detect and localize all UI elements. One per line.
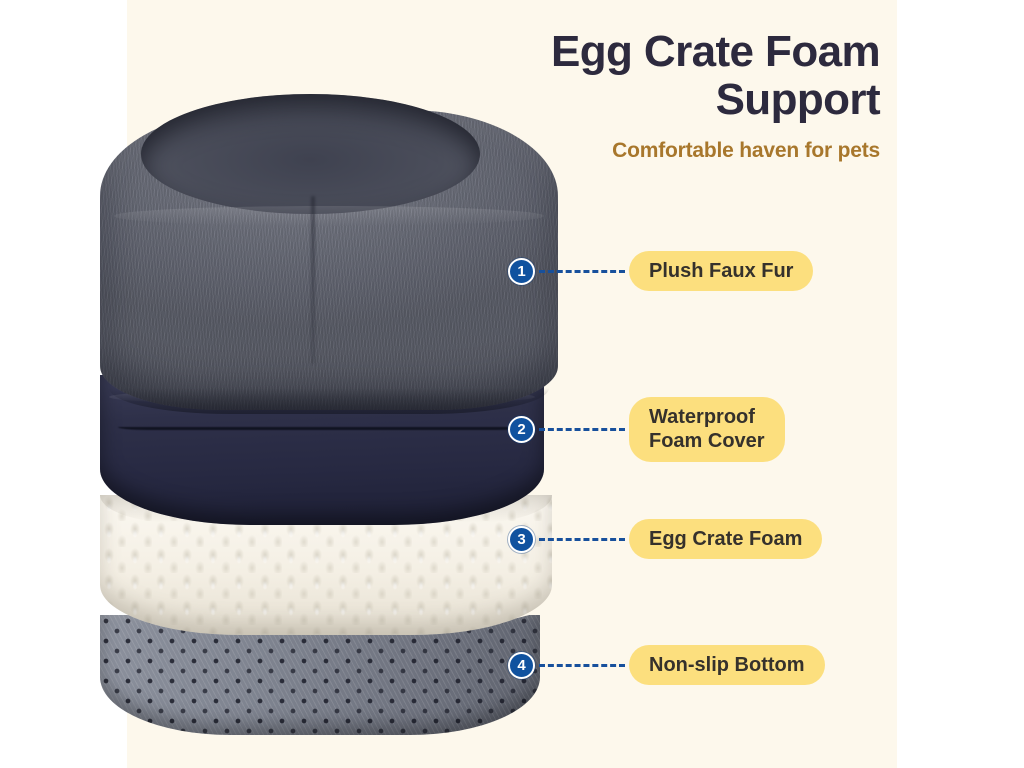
fur-base-shadow bbox=[109, 388, 549, 414]
callout-label-1: Plush Faux Fur bbox=[629, 251, 813, 291]
infographic-canvas: Egg Crate Foam Support Comfortable haven… bbox=[0, 0, 1024, 768]
callout-connector-4 bbox=[539, 664, 625, 667]
callout-connector-2 bbox=[539, 428, 625, 431]
fur-roll-highlight bbox=[114, 206, 545, 226]
callout-badge-3: 3 bbox=[508, 526, 535, 553]
callout-label-4: Non-slip Bottom bbox=[629, 645, 825, 685]
callout-badge-4: 4 bbox=[508, 652, 535, 679]
product-image bbox=[100, 110, 570, 750]
callout-2[interactable]: 2 Waterproof Foam Cover bbox=[508, 397, 785, 462]
callout-4[interactable]: 4 Non-slip Bottom bbox=[508, 645, 825, 685]
fur-seam-line bbox=[311, 196, 315, 364]
navy-seam-line bbox=[118, 427, 526, 430]
callout-connector-3 bbox=[539, 538, 625, 541]
callout-label-2-line-1: Waterproof bbox=[649, 406, 755, 428]
callout-badge-1: 1 bbox=[508, 258, 535, 285]
page-title-line-1: Egg Crate Foam bbox=[380, 28, 880, 76]
callout-label-2-line-2: Foam Cover bbox=[649, 429, 765, 453]
callout-3[interactable]: 3 Egg Crate Foam bbox=[508, 519, 822, 559]
callout-label-3: Egg Crate Foam bbox=[629, 519, 822, 559]
callout-label-2: Waterproof Foam Cover bbox=[629, 397, 785, 462]
callout-connector-1 bbox=[539, 270, 625, 273]
callout-1[interactable]: 1 Plush Faux Fur bbox=[508, 251, 813, 291]
title-block: Egg Crate Foam Support Comfortable haven… bbox=[380, 28, 880, 163]
page-subtitle: Comfortable haven for pets bbox=[380, 139, 880, 163]
page-title-line-2: Support bbox=[380, 76, 880, 124]
callout-badge-2: 2 bbox=[508, 416, 535, 443]
